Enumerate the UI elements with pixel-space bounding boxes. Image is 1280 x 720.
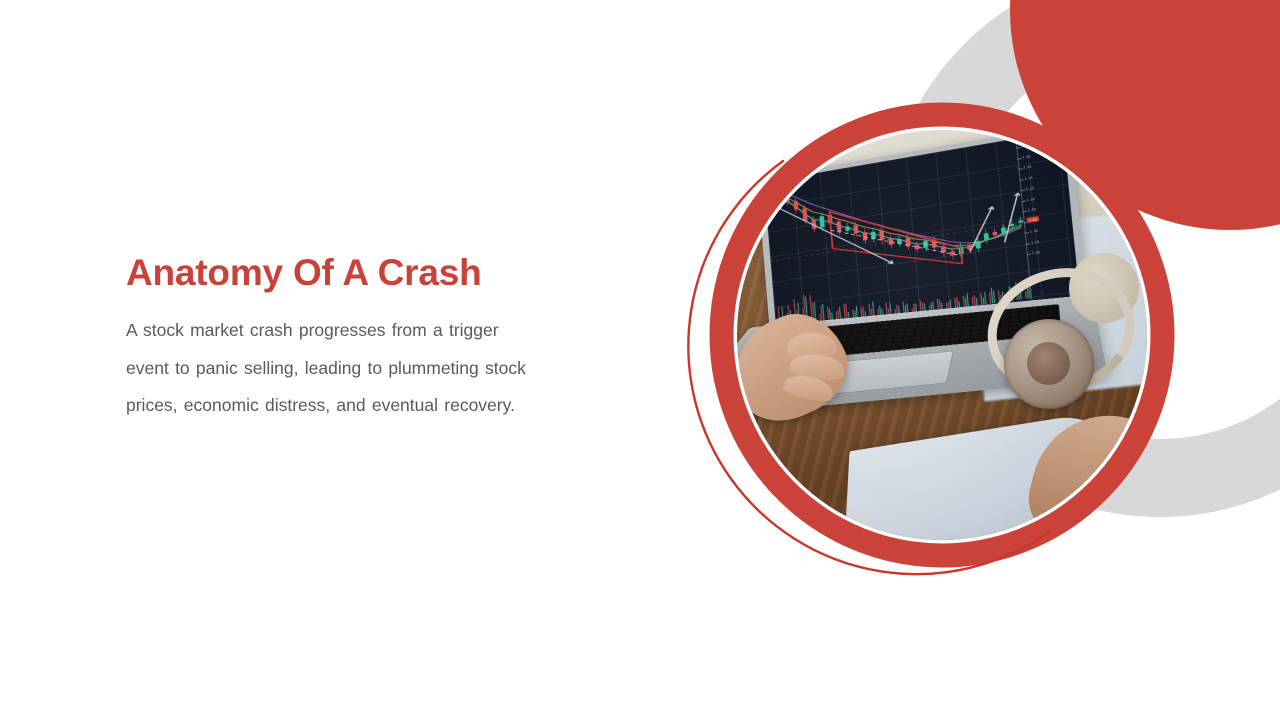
text-column: Anatomy Of A Crash A stock market crash …	[126, 252, 556, 425]
photo-inner: 5.004.804.604.404.204.003.803.603.403.20…	[737, 130, 1147, 540]
slide-canvas: 5.004.804.604.404.204.003.803.603.403.20…	[0, 0, 1280, 720]
page-title: Anatomy Of A Crash	[126, 252, 556, 295]
photo-vignette	[737, 130, 1147, 540]
body-paragraph: A stock market crash progresses from a t…	[126, 312, 544, 426]
stock-trading-laptop-photo: 5.004.804.604.404.204.003.803.603.403.20…	[737, 130, 1147, 540]
